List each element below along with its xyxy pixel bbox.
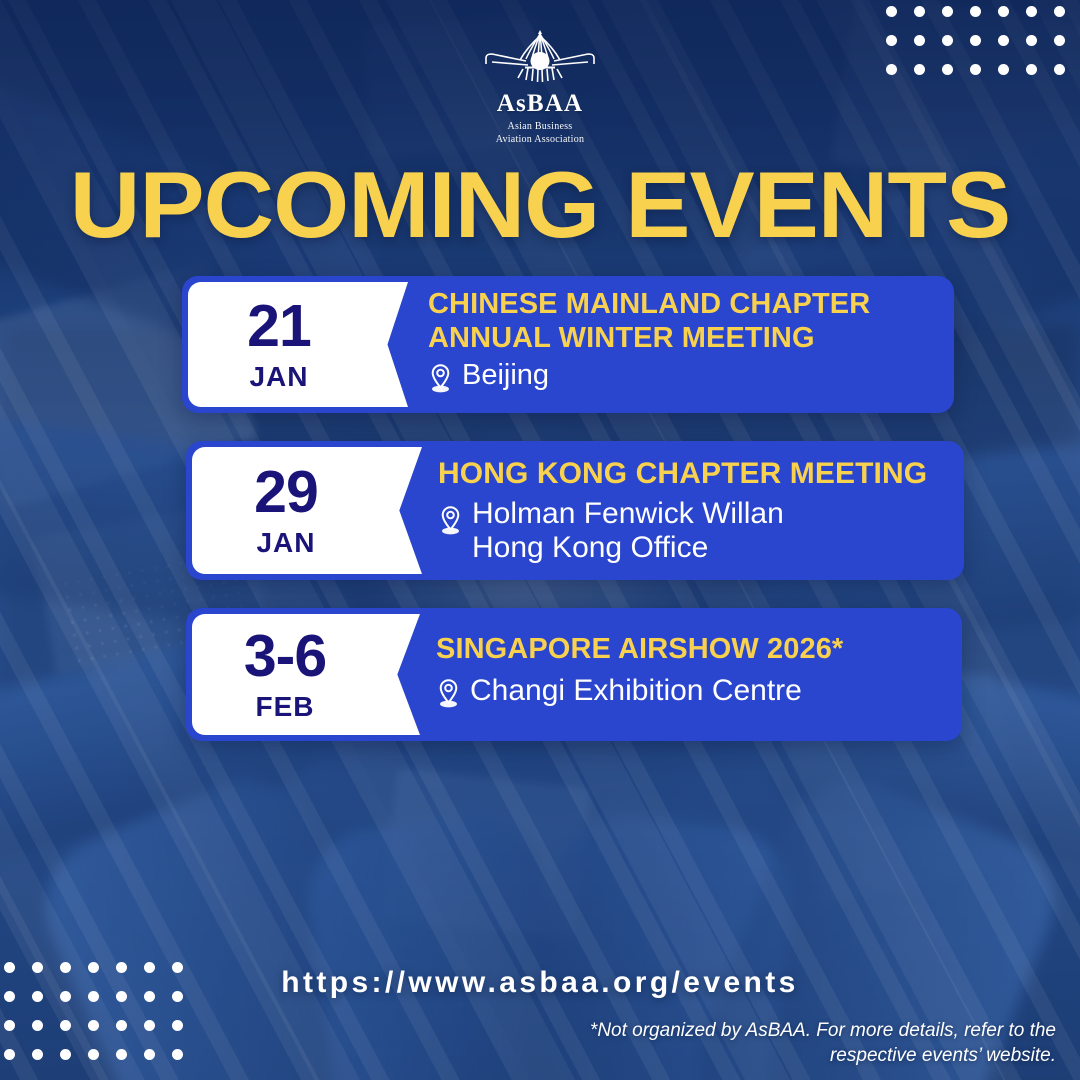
decor-dot — [1026, 6, 1037, 17]
event-day: 29 — [254, 464, 318, 521]
decor-dot — [4, 1049, 15, 1060]
decor-dot — [172, 1020, 183, 1031]
disclaimer-text: *Not organized by AsBAA. For more detail… — [536, 1018, 1056, 1068]
decor-dot — [116, 1049, 127, 1060]
event-location-text: Holman Fenwick Willan Hong Kong Office — [472, 497, 784, 564]
decor-dot — [942, 6, 953, 17]
event-location-text: Changi Exhibition Centre — [470, 674, 802, 708]
event-card[interactable]: 21 JAN CHINESE MAINLAND CHAPTER ANNUAL W… — [182, 276, 954, 413]
decor-dot — [998, 6, 1009, 17]
events-list: 21 JAN CHINESE MAINLAND CHAPTER ANNUAL W… — [0, 276, 1080, 741]
event-day: 3-6 — [244, 628, 326, 685]
event-month: JAN — [249, 363, 308, 391]
event-date-block: 3-6 FEB — [192, 614, 378, 735]
map-pin-icon — [436, 678, 461, 716]
map-pin-icon — [438, 505, 463, 543]
decor-dot — [144, 1020, 155, 1031]
decor-dot — [886, 6, 897, 17]
logo-tagline: Asian Business Aviation Association — [496, 121, 584, 146]
event-month: FEB — [256, 693, 315, 721]
logo-wordmark: AsBAA — [497, 91, 584, 116]
decor-dot — [32, 1049, 43, 1060]
event-card[interactable]: 3-6 FEB SINGAPORE AIRSHOW 2026* Changi E… — [186, 608, 962, 741]
decor-dot — [116, 1020, 127, 1031]
event-location-text: Beijing — [462, 359, 549, 391]
event-location: Holman Fenwick Willan Hong Kong Office — [438, 497, 942, 564]
asbaa-aircraft-logo-icon — [476, 28, 604, 90]
event-month: JAN — [256, 529, 315, 557]
decor-dot — [88, 1049, 99, 1060]
decor-dot — [32, 1020, 43, 1031]
decor-dot — [172, 1049, 183, 1060]
upcoming-events-poster: AsBAA Asian Business Aviation Associatio… — [0, 0, 1080, 1080]
decor-dot — [914, 6, 925, 17]
asbaa-logo: AsBAA Asian Business Aviation Associatio… — [0, 28, 1080, 138]
event-details: HONG KONG CHAPTER MEETING Holman Fenwick… — [380, 441, 964, 580]
event-date-block: 21 JAN — [188, 282, 370, 407]
logo-tagline-line1: Asian Business — [496, 121, 584, 134]
event-title: HONG KONG CHAPTER MEETING — [438, 457, 942, 492]
event-details: SINGAPORE AIRSHOW 2026* Changi Exhibitio… — [378, 608, 962, 741]
logo-tagline-line2: Aviation Association — [496, 134, 584, 147]
decor-dot — [60, 1049, 71, 1060]
map-pin-icon — [428, 363, 453, 400]
event-title: CHINESE MAINLAND CHAPTER ANNUAL WINTER M… — [428, 288, 932, 355]
events-url[interactable]: https://www.asbaa.org/events — [0, 966, 1080, 1000]
decor-dot — [88, 1020, 99, 1031]
decor-dot — [970, 6, 981, 17]
event-location: Beijing — [428, 359, 932, 400]
decor-dot — [4, 1020, 15, 1031]
event-day: 21 — [247, 298, 311, 355]
decor-dot — [1054, 6, 1065, 17]
event-date-block: 29 JAN — [192, 447, 380, 574]
event-card[interactable]: 29 JAN HONG KONG CHAPTER MEETING Holman … — [186, 441, 964, 580]
event-location: Changi Exhibition Centre — [436, 674, 940, 716]
decor-dot — [144, 1049, 155, 1060]
page-title: UPCOMING EVENTS — [0, 158, 1080, 252]
decor-dot — [60, 1020, 71, 1031]
event-title: SINGAPORE AIRSHOW 2026* — [436, 633, 940, 667]
event-details: CHINESE MAINLAND CHAPTER ANNUAL WINTER M… — [370, 276, 954, 413]
